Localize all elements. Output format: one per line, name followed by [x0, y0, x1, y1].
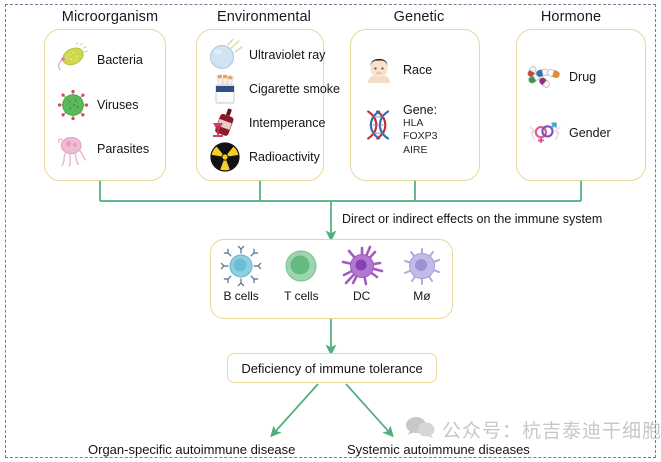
immune-cell-label-dc: DC — [353, 289, 370, 303]
deficiency-of-immune-tolerance-box[interactable]: Deficiency of immune tolerance — [227, 353, 437, 383]
diagram-canvas: Microorganism Environmental Genetic Horm… — [5, 4, 656, 458]
factor-row-gene: Gene: HLA FOXP3 AIRE — [357, 103, 473, 157]
factor-card-genetic[interactable]: Race Ge — [350, 29, 480, 181]
category-title-hormone: Hormone — [496, 9, 646, 25]
factor-row-viruses: Viruses — [51, 88, 159, 122]
b-cell-icon — [218, 244, 264, 288]
dendritic-cell-icon — [339, 244, 385, 288]
sun-uv-icon — [207, 38, 243, 72]
deficiency-label: Deficiency of immune tolerance — [241, 361, 422, 376]
factor-row-parasites: Parasites — [51, 133, 159, 167]
immune-cells-card[interactable]: B cells T cells — [210, 239, 453, 319]
macrophage-icon — [399, 244, 445, 288]
category-title-genetic: Genetic — [344, 9, 494, 25]
factor-card-environmental[interactable]: Ultraviolet ray — [196, 29, 324, 181]
gender-symbols-icon — [527, 116, 563, 150]
bacterium-icon — [55, 43, 91, 77]
factor-label-radioactivity: Radioactivity — [249, 150, 320, 165]
factor-label-bacteria: Bacteria — [97, 53, 143, 68]
watermark: 公众号：杭吉泰迪干细胞 — [405, 416, 661, 443]
arrow-to-organ-specific — [274, 384, 318, 433]
factor-row-intemperance: Intemperance — [203, 106, 317, 140]
outcome-systemic: Systemic autoimmune diseases — [347, 442, 530, 457]
category-title-environmental: Environmental — [184, 9, 344, 25]
immune-cell-macrophage: Mø — [394, 244, 450, 303]
gene-subline-aire: AIRE — [403, 144, 437, 157]
immune-cell-label-b-cells: B cells — [223, 289, 258, 303]
immune-cell-label-t-cells: T cells — [284, 289, 318, 303]
factor-label-viruses: Viruses — [97, 98, 138, 113]
factor-label-intemperance: Intemperance — [249, 116, 325, 131]
immune-cell-t-cells: T cells — [273, 244, 329, 303]
parasite-icon — [55, 133, 91, 167]
factor-label-parasites: Parasites — [97, 142, 149, 157]
cigarette-pack-icon — [207, 72, 243, 106]
wine-bottle-icon — [207, 106, 243, 140]
factor-label-drug: Drug — [569, 70, 596, 85]
person-face-icon — [361, 53, 397, 87]
virus-icon — [55, 88, 91, 122]
outcome-organ-specific: Organ-specific autoimmune disease — [88, 442, 295, 457]
factor-card-microorganism[interactable]: Bacteria — [44, 29, 166, 181]
factor-row-bacteria: Bacteria — [51, 43, 159, 77]
factor-row-drug: Drug — [523, 60, 639, 94]
wechat-icon — [405, 416, 435, 443]
immune-cell-dc: DC — [334, 244, 390, 303]
gene-subline-hla: HLA — [403, 117, 437, 130]
watermark-text: 公众号：杭吉泰迪干细胞 — [442, 416, 661, 443]
factor-row-cigarette-smoke: Cigarette smoke — [203, 72, 317, 106]
factor-label-gene: Gene: HLA FOXP3 AIRE — [403, 103, 437, 157]
category-title-microorganism: Microorganism — [20, 9, 200, 25]
factor-row-ultraviolet-ray: Ultraviolet ray — [203, 38, 317, 72]
factor-label-ultraviolet-ray: Ultraviolet ray — [249, 48, 325, 63]
t-cell-icon — [278, 244, 324, 288]
radiation-icon — [207, 140, 243, 174]
arrow-to-systemic — [346, 384, 390, 433]
factor-row-radioactivity: Radioactivity — [203, 140, 317, 174]
immune-cell-label-macrophage: Mø — [413, 289, 430, 303]
edge-label-immune-effects: Direct or indirect effects on the immune… — [342, 212, 602, 226]
gene-title: Gene: — [403, 103, 437, 117]
gene-subline-foxp3: FOXP3 — [403, 130, 437, 143]
factor-row-gender: Gender — [523, 116, 639, 150]
factor-row-race: Race — [357, 53, 473, 87]
factor-label-cigarette-smoke: Cigarette smoke — [249, 82, 340, 97]
factor-label-gender: Gender — [569, 126, 611, 141]
factor-card-hormone[interactable]: Drug — [516, 29, 646, 181]
factor-label-race: Race — [403, 63, 432, 78]
pills-capsules-icon — [527, 60, 563, 94]
dna-helix-icon — [361, 103, 397, 147]
immune-cell-b-cells: B cells — [213, 244, 269, 303]
